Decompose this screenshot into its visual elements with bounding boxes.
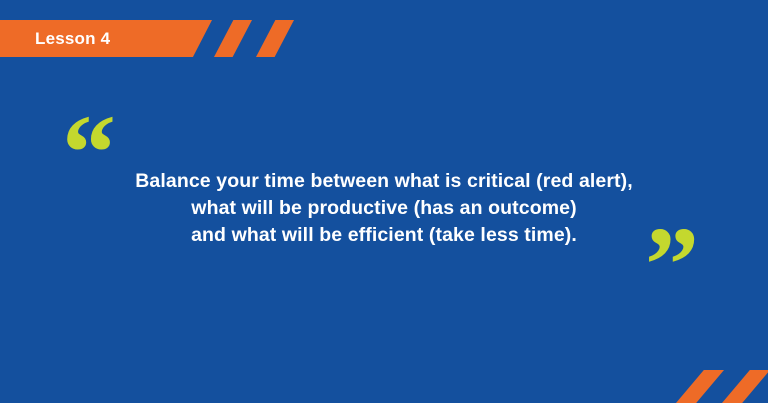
header-diagonal-stripe-2 [256, 20, 294, 57]
corner-diagonal-stripe-2 [722, 370, 768, 403]
header-diagonal-stripe-1 [214, 20, 252, 57]
quote-line-2: what will be productive (has an outcome) [54, 195, 714, 222]
closing-quote-mark-icon: ” [645, 212, 697, 320]
quote-text: Balance your time between what is critic… [54, 168, 714, 249]
lesson-banner: Lesson 4 [0, 20, 212, 57]
lesson-banner-label: Lesson 4 [35, 20, 110, 57]
lesson-quote-slide: Lesson 4 “ Balance your time between wha… [0, 0, 768, 403]
quote-line-3: and what will be efficient (take less ti… [54, 222, 714, 249]
corner-diagonal-stripe-1 [676, 370, 724, 403]
quote-line-1: Balance your time between what is critic… [54, 168, 714, 195]
